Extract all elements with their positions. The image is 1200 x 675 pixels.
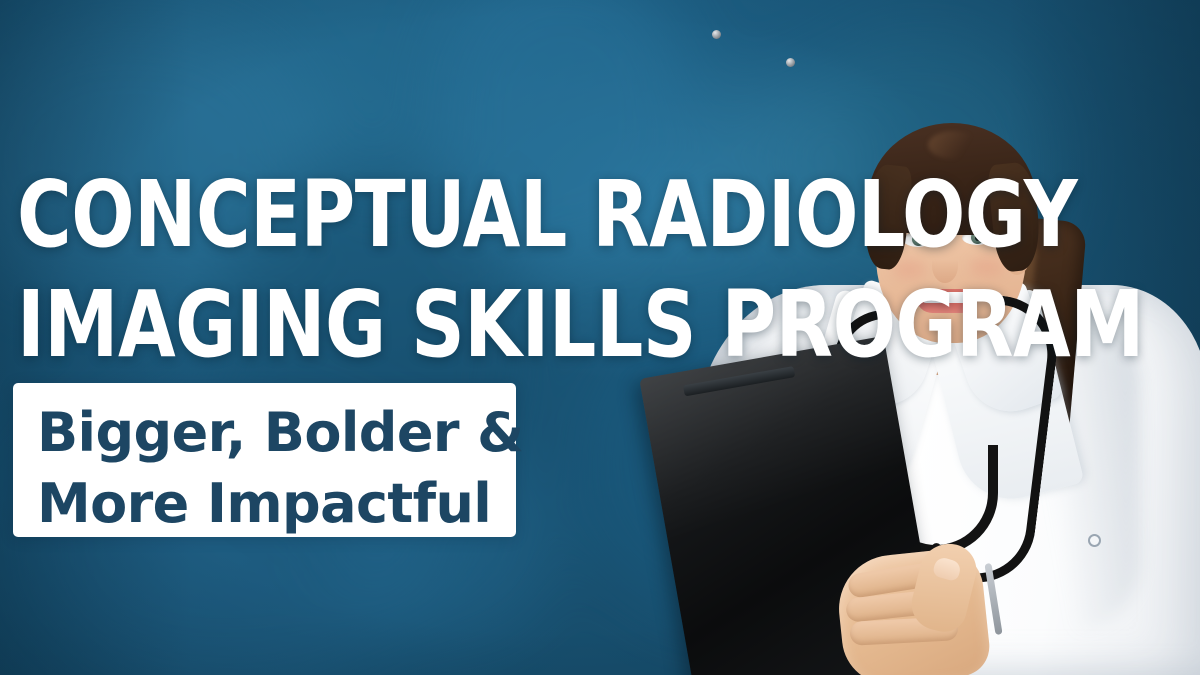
hair-part-highlight <box>928 131 978 159</box>
copy-block: Conceptual Radiology Imaging Skills Prog… <box>0 0 770 675</box>
coat-button <box>1088 534 1101 547</box>
headline-line-1: Conceptual Radiology <box>17 160 701 270</box>
page-title: Conceptual Radiology Imaging Skills Prog… <box>17 160 701 380</box>
promo-banner: Conceptual Radiology Imaging Skills Prog… <box>0 0 1200 675</box>
subtitle-card: Bigger, Bolder & More Impactful <box>13 383 516 537</box>
clipboard-rivet <box>786 58 795 67</box>
subtitle-line-1: Bigger, Bolder & <box>37 397 524 468</box>
subtitle: Bigger, Bolder & More Impactful <box>37 397 524 539</box>
subtitle-line-2: More Impactful <box>37 468 524 539</box>
headline-line-2: Imaging Skills Program <box>17 270 701 380</box>
